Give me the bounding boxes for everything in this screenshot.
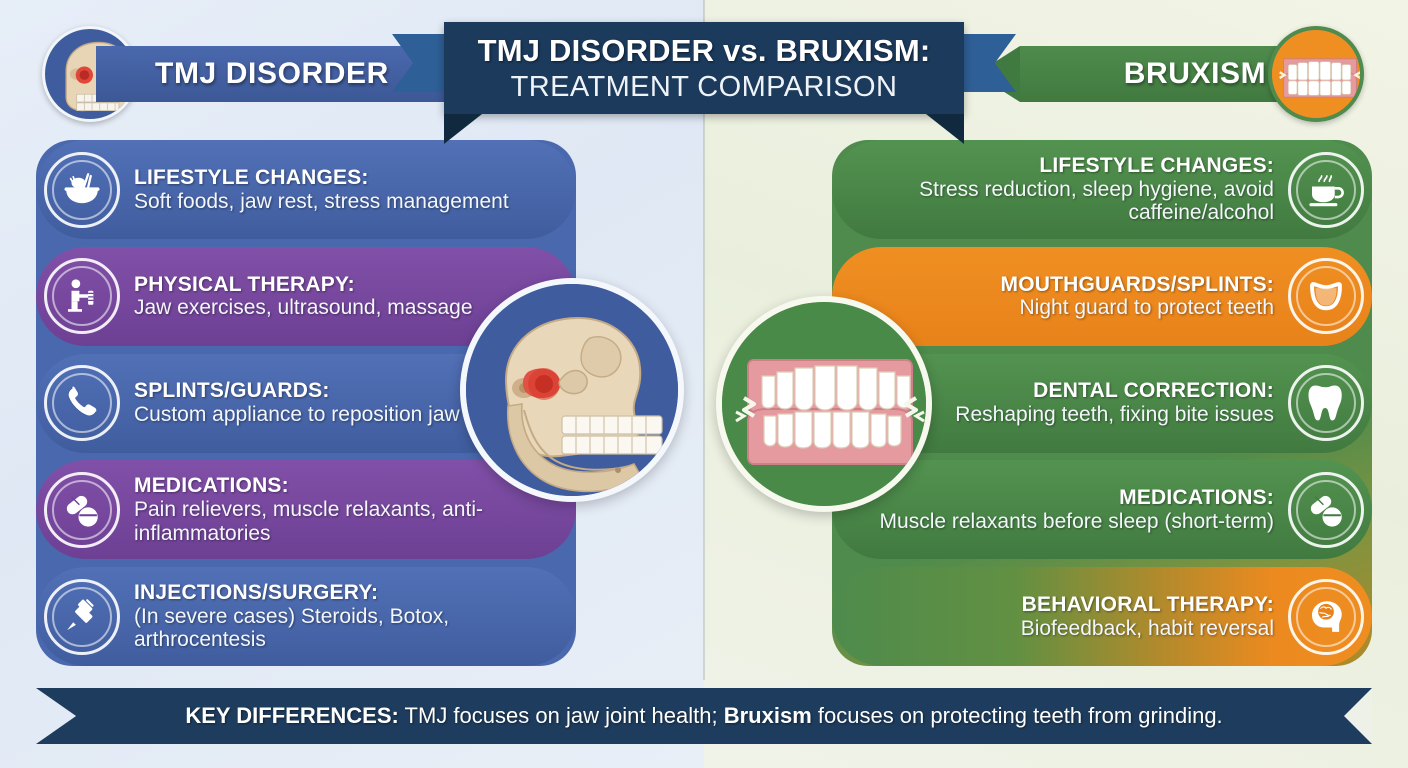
row-title: LIFESTYLE CHANGES:: [858, 154, 1274, 178]
right-row-lifestyle-changes[interactable]: LIFESTYLE CHANGES: Stress reduction, sle…: [832, 140, 1372, 239]
right-row-text: BEHAVIORAL THERAPY: Biofeedback, habit r…: [848, 593, 1288, 640]
left-row-medications[interactable]: MEDICATIONS: Pain relievers, muscle rela…: [36, 460, 576, 559]
right-row-behavioral-therapy[interactable]: BEHAVIORAL THERAPY: Biofeedback, habit r…: [832, 567, 1372, 666]
infographic-root: TMJ DISORDER BRUXISM TMJ DISORDER vs. B: [0, 0, 1408, 768]
key-differences-text: KEY DIFFERENCES: TMJ focuses on jaw join…: [185, 703, 1222, 729]
right-row-text: LIFESTYLE CHANGES: Stress reduction, sle…: [848, 154, 1288, 225]
right-row-mouthguards-splints[interactable]: MOUTHGUARDS/SPLINTS: Night guard to prot…: [832, 247, 1372, 346]
row-desc: Pain relievers, muscle relaxants, anti-i…: [134, 498, 550, 545]
grinding-teeth-icon: [1268, 26, 1364, 122]
row-title: PHYSICAL THERAPY:: [134, 273, 550, 297]
phone-handset-icon: [44, 365, 120, 441]
coffee-cup-icon: [1288, 152, 1364, 228]
key-differences-label: KEY DIFFERENCES:: [185, 703, 399, 728]
main-title-banner: TMJ DISORDER vs. BRUXISM: TREATMENT COMP…: [444, 22, 964, 114]
key-differences-banner: KEY DIFFERENCES: TMJ focuses on jaw join…: [36, 688, 1372, 744]
row-desc: (In severe cases) Steroids, Botox, arthr…: [134, 605, 550, 652]
left-row-text: MEDICATIONS: Pain relievers, muscle rela…: [120, 474, 560, 545]
row-title: MOUTHGUARDS/SPLINTS:: [858, 273, 1274, 297]
row-desc: Soft foods, jaw rest, stress management: [134, 190, 550, 214]
right-row-text: MEDICATIONS: Muscle relaxants before sle…: [848, 486, 1288, 533]
food-bowl-icon: [44, 152, 120, 228]
title-line-2: TREATMENT COMPARISON: [511, 71, 898, 104]
key-differences-part2: focuses on protecting teeth from grindin…: [812, 703, 1223, 728]
pills-icon: [44, 472, 120, 548]
row-desc: Biofeedback, habit reversal: [858, 617, 1274, 641]
row-desc: Stress reduction, sleep hygiene, avoid c…: [858, 178, 1274, 225]
teeth-grinding-illustration: [716, 296, 932, 512]
physical-therapy-icon: [44, 258, 120, 334]
tooth-icon: [1288, 365, 1364, 441]
row-desc: Muscle relaxants before sleep (short-ter…: [858, 510, 1274, 534]
pills-icon: [1288, 472, 1364, 548]
left-row-lifestyle-changes[interactable]: LIFESTYLE CHANGES: Soft foods, jaw rest,…: [36, 140, 576, 239]
left-row-injections-surgery[interactable]: INJECTIONS/SURGERY: (In severe cases) St…: [36, 567, 576, 666]
title-line-1: TMJ DISORDER vs. BRUXISM:: [478, 33, 931, 69]
row-title: BEHAVIORAL THERAPY:: [858, 593, 1274, 617]
right-heading-label: BRUXISM: [1124, 57, 1267, 91]
left-row-text: INJECTIONS/SURGERY: (In severe cases) St…: [120, 581, 560, 652]
syringe-icon: [44, 579, 120, 655]
right-row-medications[interactable]: MEDICATIONS: Muscle relaxants before sle…: [832, 460, 1372, 559]
row-title: LIFESTYLE CHANGES:: [134, 166, 550, 190]
row-title: MEDICATIONS:: [134, 474, 550, 498]
mouthguard-icon: [1288, 258, 1364, 334]
brain-head-icon: [1288, 579, 1364, 655]
left-row-text: LIFESTYLE CHANGES: Soft foods, jaw rest,…: [120, 166, 560, 213]
row-desc: Night guard to protect teeth: [858, 296, 1274, 320]
row-title: MEDICATIONS:: [858, 486, 1274, 510]
key-differences-bold-term: Bruxism: [724, 703, 812, 728]
key-differences-part1: TMJ focuses on jaw joint health;: [399, 703, 724, 728]
row-title: INJECTIONS/SURGERY:: [134, 581, 550, 605]
left-heading-label: TMJ DISORDER: [155, 57, 389, 91]
skull-tmj-joint-illustration: [460, 278, 684, 502]
right-row-text: MOUTHGUARDS/SPLINTS: Night guard to prot…: [848, 273, 1288, 320]
